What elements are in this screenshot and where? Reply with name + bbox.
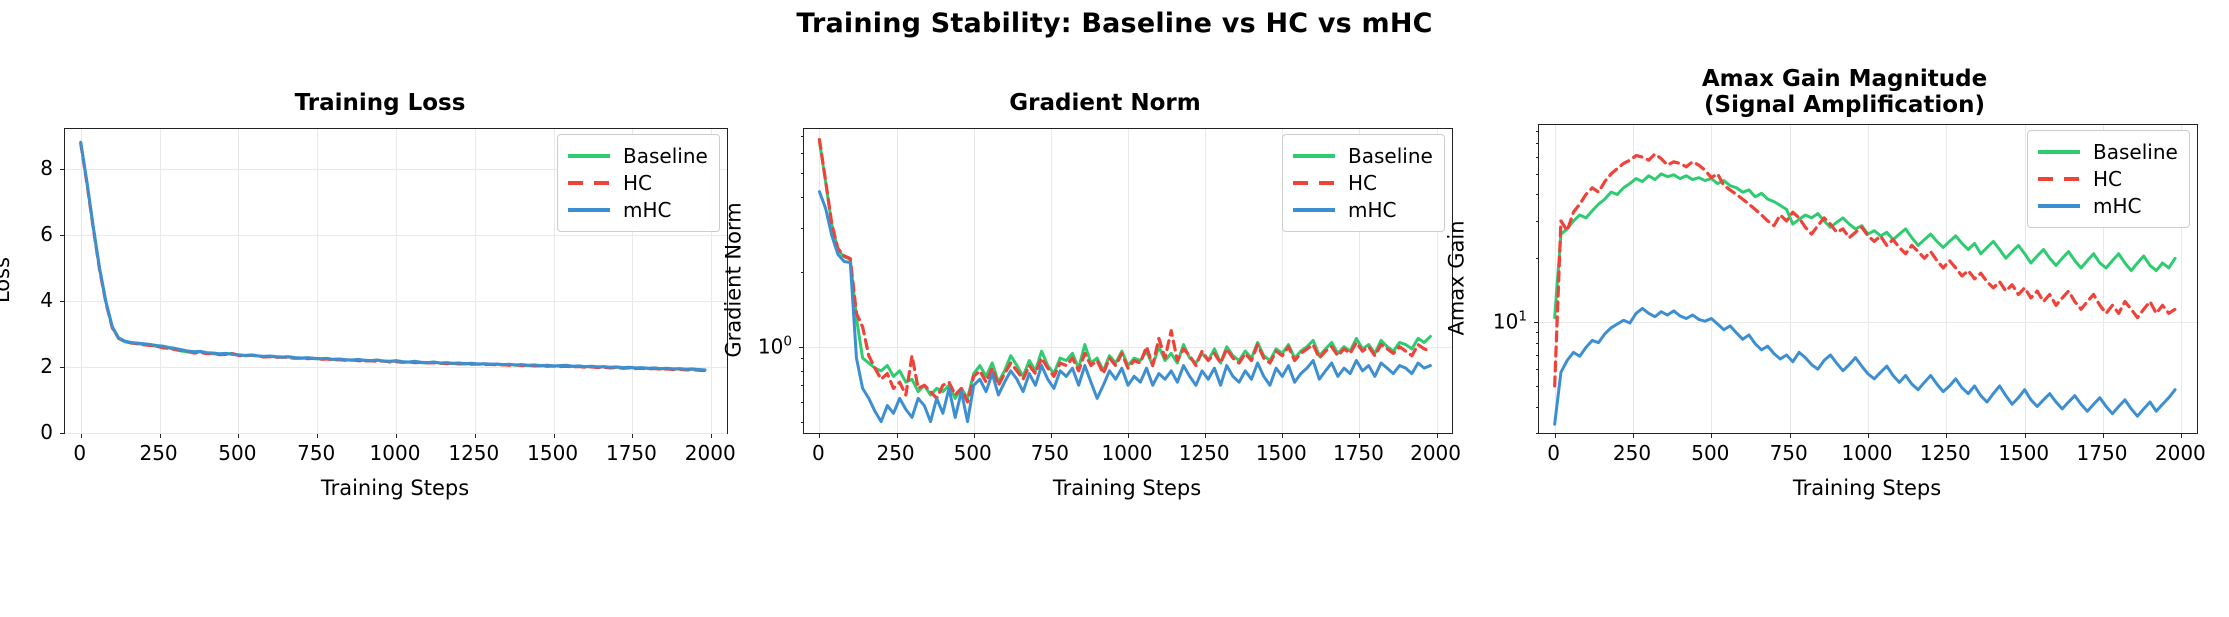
ytick-label: 100	[735, 333, 792, 358]
legend-label: Baseline	[1348, 146, 1433, 166]
ytick-label: 101	[1460, 309, 1527, 334]
xtick-label: 500	[1691, 441, 1729, 465]
xtick-label: 0	[812, 441, 825, 465]
legend-entry-mhc[interactable]: mHC	[2038, 192, 2178, 219]
xtick-mark	[1359, 433, 1360, 438]
legend-2[interactable]: BaselineHCmHC	[1282, 134, 1445, 232]
legend-swatch-mhc-icon	[1293, 208, 1335, 212]
xtick-label: 1500	[527, 441, 578, 465]
xtick-label: 1750	[2077, 441, 2128, 465]
xtick-mark	[1633, 433, 1634, 438]
xtick-mark	[2025, 433, 2026, 438]
figure-suptitle: Training Stability: Baseline vs HC vs mH…	[0, 8, 2229, 39]
gridline-horizontal	[65, 433, 727, 434]
xaxis-label-2: Training Steps	[803, 476, 1451, 500]
ytick-minor-mark	[1536, 433, 1540, 434]
legend-swatch-hc-icon	[2038, 177, 2080, 181]
xtick-mark	[1555, 433, 1556, 438]
xtick-mark	[1790, 433, 1791, 438]
xtick-label: 1500	[1256, 441, 1307, 465]
xtick-label: 2000	[1410, 441, 1461, 465]
xtick-label: 0	[1547, 441, 1560, 465]
legend-entry-hc[interactable]: HC	[2038, 165, 2178, 192]
xtick-mark	[897, 433, 898, 438]
legend-label: mHC	[2093, 196, 2142, 216]
subplot-gradient-norm: Gradient Norm Training Steps Gradient No…	[735, 62, 1475, 617]
legend-swatch-baseline-icon	[2038, 150, 2080, 154]
ytick-label: 2	[0, 354, 53, 378]
xtick-mark	[1205, 433, 1206, 438]
legend-entry-baseline[interactable]: Baseline	[2038, 138, 2178, 165]
xtick-label: 2000	[2155, 441, 2206, 465]
xtick-label: 0	[73, 441, 86, 465]
subplot-title-3-line2: (Signal Amplification)	[1704, 92, 1985, 118]
legend-entry-mhc[interactable]: mHC	[1293, 196, 1433, 223]
legend-swatch-hc-icon	[1293, 181, 1335, 185]
xtick-label: 500	[954, 441, 992, 465]
xtick-label: 1750	[1333, 441, 1384, 465]
xtick-label: 1250	[1179, 441, 1230, 465]
legend-label: Baseline	[623, 146, 708, 166]
subplot-amax-gain: Amax Gain Magnitude (Signal Amplificatio…	[1460, 62, 2229, 617]
ytick-label: 4	[0, 288, 53, 312]
legend-swatch-baseline-icon	[1293, 154, 1335, 158]
subplot-title-3-line1: Amax Gain Magnitude	[1702, 66, 1987, 92]
xtick-label: 1250	[1920, 441, 1971, 465]
xtick-mark	[1868, 433, 1869, 438]
ytick-label: 6	[0, 222, 53, 246]
xtick-label: 250	[876, 441, 914, 465]
xtick-label: 250	[139, 441, 177, 465]
xtick-label: 1000	[1842, 441, 1893, 465]
xtick-mark	[1711, 433, 1712, 438]
legend-entry-mhc[interactable]: mHC	[568, 196, 708, 223]
xtick-label: 1500	[1998, 441, 2049, 465]
xtick-label: 500	[218, 441, 256, 465]
xtick-label: 2000	[685, 441, 736, 465]
xtick-mark	[819, 433, 820, 438]
legend-swatch-baseline-icon	[568, 154, 610, 158]
legend-entry-hc[interactable]: HC	[568, 169, 708, 196]
legend-label: HC	[623, 173, 652, 193]
subplot-title-2: Gradient Norm	[735, 90, 1475, 116]
figure-root: Training Stability: Baseline vs HC vs mH…	[0, 0, 2229, 617]
subplot-training-loss: Training Loss Training Steps Loss Baseli…	[0, 62, 760, 617]
series-line-mhc	[1555, 308, 2175, 424]
legend-entry-baseline[interactable]: Baseline	[1293, 142, 1433, 169]
xtick-mark	[1946, 433, 1947, 438]
xtick-mark	[2103, 433, 2104, 438]
xtick-label: 750	[1770, 441, 1808, 465]
legend-label: HC	[1348, 173, 1377, 193]
legend-swatch-mhc-icon	[568, 208, 610, 212]
xaxis-label-1: Training Steps	[64, 476, 726, 500]
xtick-label: 250	[1613, 441, 1651, 465]
subplot-title-3: Amax Gain Magnitude (Signal Amplificatio…	[1460, 66, 2229, 118]
xtick-label: 1000	[370, 441, 421, 465]
legend-1[interactable]: BaselineHCmHC	[557, 134, 720, 232]
subplot-title-1: Training Loss	[0, 90, 760, 116]
xtick-label: 750	[1031, 441, 1069, 465]
legend-label: Baseline	[2093, 142, 2178, 162]
ytick-mark	[60, 433, 65, 434]
xtick-mark	[1051, 433, 1052, 438]
legend-label: mHC	[623, 200, 672, 220]
legend-entry-hc[interactable]: HC	[1293, 169, 1433, 196]
xtick-mark	[974, 433, 975, 438]
xtick-label: 1750	[606, 441, 657, 465]
xaxis-label-3: Training Steps	[1538, 476, 2196, 500]
legend-swatch-mhc-icon	[2038, 204, 2080, 208]
xtick-mark	[1128, 433, 1129, 438]
legend-label: HC	[2093, 169, 2122, 189]
legend-entry-baseline[interactable]: Baseline	[568, 142, 708, 169]
xtick-label: 1000	[1102, 441, 1153, 465]
xtick-mark	[2181, 433, 2182, 438]
legend-3[interactable]: BaselineHCmHC	[2027, 130, 2190, 228]
legend-label: mHC	[1348, 200, 1397, 220]
xtick-label: 750	[297, 441, 335, 465]
ytick-label: 0	[0, 420, 53, 444]
xtick-mark	[1282, 433, 1283, 438]
xtick-label: 1250	[448, 441, 499, 465]
ytick-label: 8	[0, 156, 53, 180]
legend-swatch-hc-icon	[568, 181, 610, 185]
xtick-mark	[1437, 433, 1438, 438]
